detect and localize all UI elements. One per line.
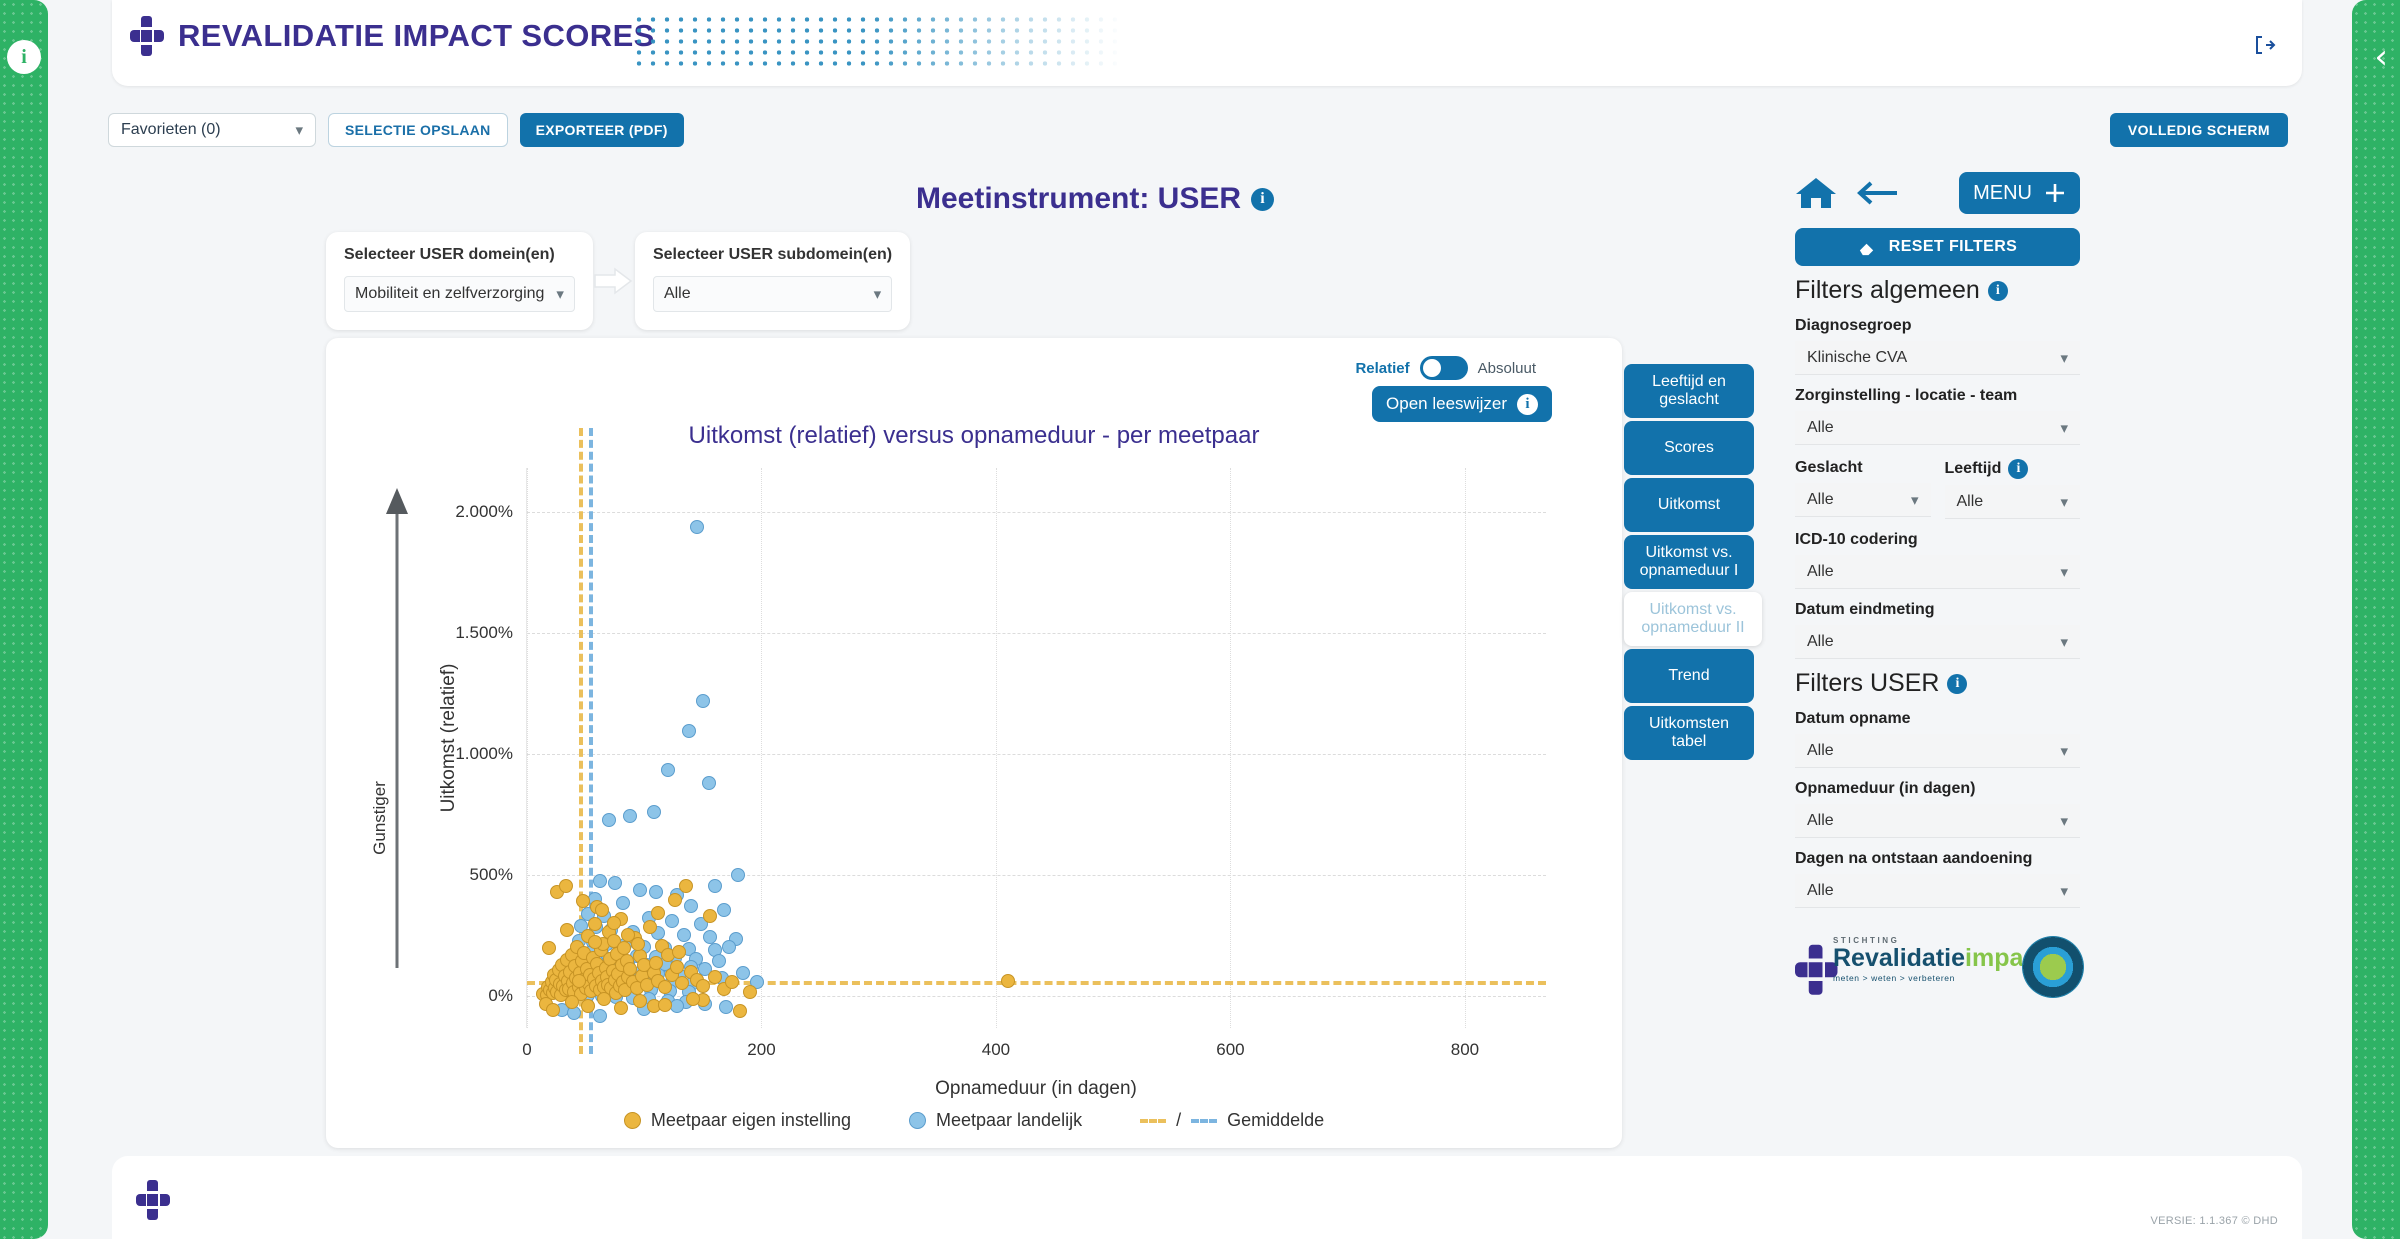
filter-datum-opname: Datum opname Alle ▾ (1795, 710, 2080, 768)
revalidatie-impact-logo: STICHTING Revalidatieimpact meten > wete… (1795, 930, 2080, 1002)
y-axis-tick: 1.500% (455, 623, 513, 643)
y-axis-tick: 0% (488, 986, 513, 1006)
dhd-logo-icon (136, 1180, 170, 1220)
scatter-point[interactable] (719, 1000, 733, 1014)
info-icon[interactable]: i (2008, 459, 2028, 479)
filters-user-heading: Filters USER i (1795, 669, 2080, 698)
legend-dash-own (1140, 1119, 1166, 1123)
scatter-point[interactable] (572, 974, 586, 988)
scatter-point[interactable] (623, 809, 637, 823)
flow-arrow-icon (593, 265, 635, 297)
scatter-point[interactable] (675, 976, 689, 990)
filter-label: Opnameduur (in dagen) (1795, 780, 2080, 798)
filter-label: Dagen na ontstaan aandoening (1795, 850, 2080, 868)
dhd-logo-icon (1795, 945, 1830, 988)
scatter-point[interactable] (679, 879, 693, 893)
filter-label: Leeftijd i (1945, 459, 2081, 479)
filter-datum-eindmeting: Datum eindmeting Alle ▾ (1795, 601, 2080, 659)
tab-trend[interactable]: Trend (1624, 649, 1754, 703)
filter-value: Alle (1807, 563, 1834, 581)
subdomain-select[interactable]: Alle ▾ (653, 276, 892, 312)
brand: REVALIDATIE IMPACT SCORES (130, 16, 655, 56)
filter-value: Alle (1807, 812, 1834, 830)
filter-label: ICD-10 codering (1795, 531, 2080, 549)
tab-uitkomsten-tabel[interactable]: Uitkomsten tabel (1624, 706, 1754, 760)
menu-label: MENU (1973, 182, 2032, 205)
subdomain-select-value: Alle (664, 285, 691, 303)
toggle-knob (1423, 359, 1441, 377)
y-gridline (527, 875, 1546, 876)
app-title: REVALIDATIE IMPACT SCORES (178, 18, 655, 54)
filter-icd10: ICD-10 codering Alle ▾ (1795, 531, 2080, 589)
filter-value: Alle (1957, 493, 1984, 511)
scatter-point[interactable] (614, 1001, 628, 1015)
chevron-down-icon: ▾ (556, 285, 564, 303)
scatter-point[interactable] (633, 883, 647, 897)
filter-value: Alle (1807, 882, 1834, 900)
app-header: REVALIDATIE IMPACT SCORES (112, 0, 2302, 86)
reset-filters-button[interactable]: RESET FILTERS (1795, 228, 2080, 266)
domain-select-label: Selecteer USER domein(en) (344, 246, 575, 264)
open-leeswijzer-label: Open leeswijzer (1386, 394, 1507, 414)
chevron-down-icon: ▾ (295, 121, 303, 139)
app-footer: VERSIE: 1.1.367 © DHD (112, 1156, 2302, 1239)
domain-select[interactable]: Mobiliteit en zelfverzorging ▾ (344, 276, 575, 312)
revalidatie-impact-wordmark: STICHTING Revalidatieimpact meten > wete… (1833, 936, 2080, 996)
home-icon[interactable] (1795, 176, 1837, 210)
scatter-point[interactable] (560, 923, 574, 937)
legend-label-national: Meetpaar landelijk (936, 1110, 1082, 1131)
arrow-left-icon[interactable] (1855, 180, 1899, 206)
filter-dagen-na-ontstaan: Dagen na ontstaan aandoening Alle ▾ (1795, 850, 2080, 908)
tab-scores[interactable]: Scores (1624, 421, 1754, 475)
chevron-down-icon: ▾ (2060, 349, 2068, 367)
filters-panel: MENU RESET FILTERS Filters algemeen i Di… (1795, 172, 2080, 1002)
tab-label: Leeftijd en geslacht (1634, 373, 1744, 410)
chevron-down-icon: ▾ (2060, 882, 2068, 900)
scatter-point[interactable] (542, 941, 556, 955)
legend-item: / Gemiddelde (1140, 1110, 1324, 1131)
scatter-point[interactable] (684, 899, 698, 913)
scatter-point[interactable] (602, 813, 616, 827)
filters-general-heading: Filters algemeen i (1795, 276, 2080, 305)
eraser-icon (1858, 238, 1877, 257)
filter-select[interactable]: Alle ▾ (1795, 625, 2080, 659)
scatter-point[interactable] (703, 909, 717, 923)
info-icon[interactable]: i (1988, 281, 2008, 301)
scatter-point[interactable] (696, 694, 710, 708)
scatter-point[interactable] (649, 885, 663, 899)
scatter-point[interactable] (595, 903, 609, 917)
filter-label: Zorginstelling - locatie - team (1795, 387, 2080, 405)
y-axis-tick: 1.000% (455, 744, 513, 764)
relative-absolute-toggle-row: Relatief Absoluut (1355, 356, 1536, 380)
y-gridline (527, 633, 1546, 634)
chart-title: Uitkomst (relatief) versus opnameduur - … (326, 422, 1622, 450)
scatter-point[interactable] (743, 985, 757, 999)
logo-main-text: Revalidatie (1833, 944, 1965, 972)
tab-leeftijd-en-geslacht[interactable]: Leeftijd en geslacht (1624, 364, 1754, 418)
filter-value: Alle (1807, 633, 1834, 651)
filter-label: Datum eindmeting (1795, 601, 2080, 619)
scatter-point[interactable] (733, 1004, 747, 1018)
scatter-point[interactable] (643, 920, 657, 934)
scatter-point[interactable] (1001, 974, 1015, 988)
chevron-down-icon: ▾ (2060, 812, 2068, 830)
x-axis-tick: 400 (982, 1040, 1010, 1060)
filter-leeftijd: Leeftijd i Alle ▾ (1945, 447, 2081, 519)
x-gridline (1230, 468, 1231, 1028)
filter-value: Alle (1807, 419, 1834, 437)
relative-absolute-toggle[interactable] (1420, 356, 1468, 380)
legend-item: Meetpaar eigen instelling (624, 1110, 851, 1131)
x-gridline (527, 468, 528, 1028)
scatter-point[interactable] (647, 805, 661, 819)
filter-zorginstelling: Zorginstelling - locatie - team Alle ▾ (1795, 387, 2080, 445)
legend-label-own: Meetpaar eigen instelling (651, 1110, 851, 1131)
filter-value: Alle (1807, 742, 1834, 760)
legend-item: Meetpaar landelijk (909, 1110, 1082, 1131)
scatter-point[interactable] (661, 763, 675, 777)
chevron-down-icon: ▾ (1911, 491, 1919, 509)
scatter-point[interactable] (546, 1003, 560, 1017)
page-title: Meetinstrument: USER (916, 182, 1241, 216)
filter-label: Datum opname (1795, 710, 2080, 728)
scatter-point[interactable] (682, 724, 696, 738)
info-icon[interactable]: i (1947, 674, 1967, 694)
tab-uitkomst-vs-opnameduur-i[interactable]: Uitkomst vs. opnameduur I (1624, 535, 1754, 589)
filter-label-text: Leeftijd (1945, 460, 2002, 478)
tab-uitkomst[interactable]: Uitkomst (1624, 478, 1754, 532)
scatter-point[interactable] (631, 937, 645, 951)
export-pdf-button[interactable]: EXPORTEER (PDF) (520, 113, 684, 147)
filters-nav: MENU (1795, 172, 2080, 214)
chevron-down-icon: ▾ (2060, 633, 2068, 651)
chevron-left-icon[interactable]: ‹ (2374, 40, 2388, 74)
scatter-point[interactable] (722, 940, 736, 954)
scatter-plot: 0%500%1.000%1.500%2.000%0200400600800 (526, 468, 1546, 1028)
x-axis-tick: 200 (747, 1040, 775, 1060)
x-gridline (761, 468, 762, 1028)
x-axis-label: Opnameduur (in dagen) (526, 1078, 1546, 1100)
filter-value: Klinische CVA (1807, 349, 1907, 367)
domain-selector-row: Selecteer USER domein(en) Mobiliteit en … (326, 232, 910, 330)
scatter-point[interactable] (658, 998, 672, 1012)
scatter-point[interactable] (708, 970, 722, 984)
scatter-point[interactable] (651, 906, 665, 920)
save-selection-button[interactable]: SELECTIE OPSLAAN (328, 113, 508, 147)
scatter-point[interactable] (559, 879, 573, 893)
scatter-point[interactable] (708, 879, 722, 893)
scatter-point[interactable] (565, 995, 579, 1009)
scatter-point[interactable] (633, 994, 647, 1008)
tab-label: Uitkomst (1658, 496, 1720, 514)
filter-label: Diagnosegroep (1795, 317, 2080, 335)
scatter-point[interactable] (576, 894, 590, 908)
scatter-point[interactable] (677, 928, 691, 942)
subdomain-select-label: Selecteer USER subdomein(en) (653, 246, 892, 264)
open-leeswijzer-button[interactable]: Open leeswijzer i (1372, 386, 1552, 422)
filter-label: Geslacht (1795, 459, 1931, 477)
legend-separator: / (1176, 1110, 1181, 1131)
filter-value: Alle (1807, 491, 1834, 509)
scatter-point[interactable] (608, 876, 622, 890)
filter-select[interactable]: Alle ▾ (1795, 804, 2080, 838)
scatter-point[interactable] (703, 930, 717, 944)
fullscreen-button[interactable]: VOLLEDIG SCHERM (2110, 113, 2288, 147)
scatter-point[interactable] (658, 980, 672, 994)
scatter-point[interactable] (731, 868, 745, 882)
version-text: VERSIE: 1.1.367 © DHD (2150, 1215, 2278, 1227)
filter-select[interactable]: Alle ▾ (1795, 483, 1931, 517)
chart-panel: Relatief Absoluut Open leeswijzer i Uitk… (326, 338, 1622, 1148)
scatter-point[interactable] (712, 954, 726, 968)
info-icon: i (1517, 394, 1538, 415)
y-gridline (527, 754, 1546, 755)
scatter-point[interactable] (588, 917, 602, 931)
menu-button[interactable]: MENU (1959, 172, 2080, 214)
info-icon[interactable]: i (7, 40, 41, 74)
legend-label-mean: Gemiddelde (1227, 1110, 1324, 1131)
legend-marker-own (624, 1112, 641, 1129)
filter-select[interactable]: Klinische CVA ▾ (1795, 341, 2080, 375)
toggle-label-absolute: Absoluut (1478, 360, 1536, 377)
scatter-point[interactable] (670, 960, 684, 974)
filter-select[interactable]: Alle ▾ (1795, 411, 2080, 445)
x-gridline (1465, 468, 1466, 1028)
filter-select[interactable]: Alle ▾ (1795, 734, 2080, 768)
chevron-down-icon: ▾ (2060, 493, 2068, 511)
legend-marker-national (909, 1112, 926, 1129)
filter-select[interactable]: Alle ▾ (1945, 485, 2081, 519)
x-axis-tick: 0 (522, 1040, 531, 1060)
scatter-point[interactable] (690, 520, 704, 534)
info-icon[interactable]: i (1251, 188, 1274, 211)
scatter-point[interactable] (588, 935, 602, 949)
domain-select-value: Mobiliteit en zelfverzorging (355, 285, 544, 303)
chevron-down-icon: ▾ (2060, 742, 2068, 760)
target-icon (2022, 936, 2084, 998)
header-dot-pattern (632, 14, 1122, 66)
tab-label: Uitkomst vs. opnameduur I (1634, 544, 1744, 581)
filter-select[interactable]: Alle ▾ (1795, 874, 2080, 908)
filters-user-heading-text: Filters USER (1795, 669, 1939, 698)
chevron-down-icon: ▾ (2060, 419, 2068, 437)
chart-legend: Meetpaar eigen instelling Meetpaar lande… (326, 1110, 1622, 1131)
chevron-down-icon: ▾ (874, 285, 882, 303)
tab-label: Trend (1668, 667, 1709, 685)
filter-row-gender-age: Geslacht Alle ▾ Leeftijd i Alle ▾ (1795, 447, 2080, 519)
filter-diagnosegroep: Diagnosegroep Klinische CVA ▾ (1795, 317, 2080, 375)
scatter-point[interactable] (717, 903, 731, 917)
filter-select[interactable]: Alle ▾ (1795, 555, 2080, 589)
filter-geslacht: Geslacht Alle ▾ (1795, 447, 1931, 519)
scatter-point[interactable] (597, 992, 611, 1006)
legend-dash-national (1191, 1119, 1217, 1123)
x-axis-tick: 800 (1451, 1040, 1479, 1060)
toolbar: Favorieten (0) ▾ SELECTIE OPSLAAN EXPORT… (108, 113, 684, 147)
logout-icon[interactable] (2252, 33, 2278, 57)
subdomain-card: Selecteer USER subdomein(en) Alle ▾ (635, 232, 910, 330)
scatter-point[interactable] (725, 975, 739, 989)
scatter-point[interactable] (607, 916, 621, 930)
y-axis-tick: 500% (470, 865, 513, 885)
x-gridline (996, 468, 997, 1028)
reset-filters-label: RESET FILTERS (1889, 238, 2017, 256)
filters-general-heading-text: Filters algemeen (1795, 276, 1980, 305)
y-axis-label: Uitkomst (relatief) (438, 664, 460, 813)
plot-area: 0%500%1.000%1.500%2.000%0200400600800 (526, 468, 1546, 1028)
favorites-value: Favorieten (0) (121, 121, 221, 139)
scatter-point[interactable] (668, 893, 682, 907)
favorites-select[interactable]: Favorieten (0) ▾ (108, 113, 316, 147)
toggle-label-relative: Relatief (1355, 360, 1409, 377)
tab-label: Uitkomst vs. opnameduur II (1634, 601, 1752, 638)
up-arrow-icon (386, 488, 408, 968)
scatter-point[interactable] (593, 874, 607, 888)
scatter-point[interactable] (672, 945, 686, 959)
x-axis-tick: 600 (1216, 1040, 1244, 1060)
chart-tab-strip: Leeftijd en geslachtScoresUitkomstUitkom… (1624, 364, 1754, 763)
plus-icon (2044, 182, 2066, 204)
y-gridline (527, 512, 1546, 513)
scatter-point[interactable] (581, 999, 595, 1013)
dhd-logo-icon (130, 16, 164, 56)
tab-uitkomst-vs-opnameduur-ii[interactable]: Uitkomst vs. opnameduur II (1624, 592, 1762, 646)
y-axis-tick: 2.000% (455, 502, 513, 522)
scatter-point[interactable] (593, 1009, 607, 1023)
tab-label: Scores (1664, 439, 1714, 457)
tab-label: Uitkomsten tabel (1634, 715, 1744, 752)
scatter-point[interactable] (616, 896, 630, 910)
scatter-point[interactable] (702, 776, 716, 790)
domain-card: Selecteer USER domein(en) Mobiliteit en … (326, 232, 593, 330)
chevron-down-icon: ▾ (2060, 563, 2068, 581)
scatter-point[interactable] (665, 914, 679, 928)
filter-opnameduur: Opnameduur (in dagen) Alle ▾ (1795, 780, 2080, 838)
scatter-point[interactable] (686, 992, 700, 1006)
